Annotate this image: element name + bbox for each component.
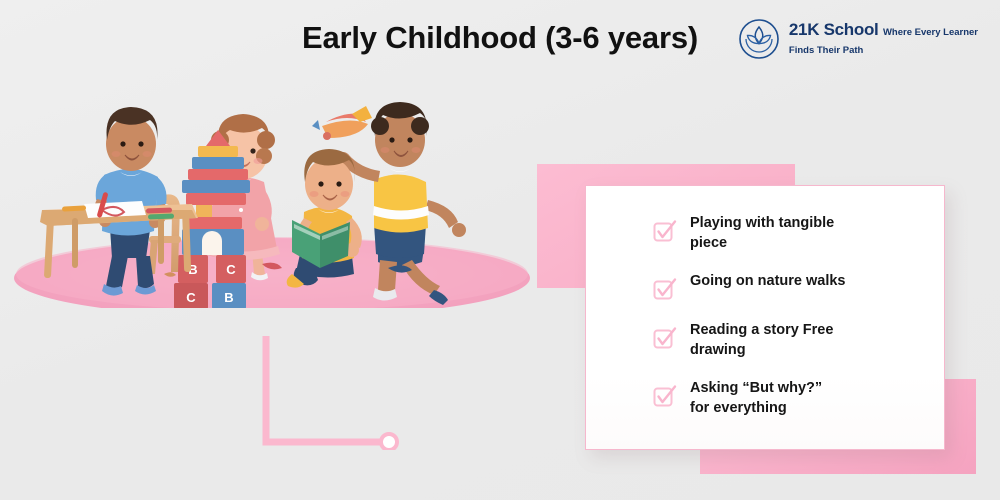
l-shaped-accent-line — [262, 336, 402, 450]
list-item-label: Playing with tangible piece — [690, 212, 834, 253]
list-item[interactable]: Playing with tangible piece — [652, 212, 928, 253]
brand-logo: 21K School Where Every Learner Finds The… — [738, 18, 978, 60]
checklist: Playing with tangible piece Going on nat… — [652, 212, 928, 418]
svg-text:C: C — [186, 290, 196, 305]
list-item-label: Going on nature walks — [690, 270, 846, 291]
logo-name: 21K School — [789, 20, 879, 39]
svg-text:C: C — [226, 262, 236, 277]
line-end-dot — [381, 434, 397, 450]
slide-canvas: Early Childhood (3-6 years) 21K School W… — [0, 0, 1000, 500]
svg-text:B: B — [224, 290, 233, 305]
checkbox-checked-icon[interactable] — [652, 325, 678, 351]
list-item-label: Asking “But why?” for everything — [690, 377, 822, 418]
list-item[interactable]: Reading a story Free drawing — [652, 319, 928, 360]
checkbox-checked-icon[interactable] — [652, 276, 678, 302]
checkbox-checked-icon[interactable] — [652, 383, 678, 409]
list-item-label: Reading a story Free drawing — [690, 319, 833, 360]
toy-airplane — [312, 106, 372, 140]
lotus-circle-icon — [738, 18, 780, 60]
checkbox-checked-icon[interactable] — [652, 218, 678, 244]
list-item[interactable]: Asking “But why?” for everything — [652, 377, 928, 418]
children-playing-illustration: B C C B — [0, 78, 560, 308]
list-item[interactable]: Going on nature walks — [652, 270, 928, 302]
checklist-card: Playing with tangible piece Going on nat… — [585, 185, 945, 450]
